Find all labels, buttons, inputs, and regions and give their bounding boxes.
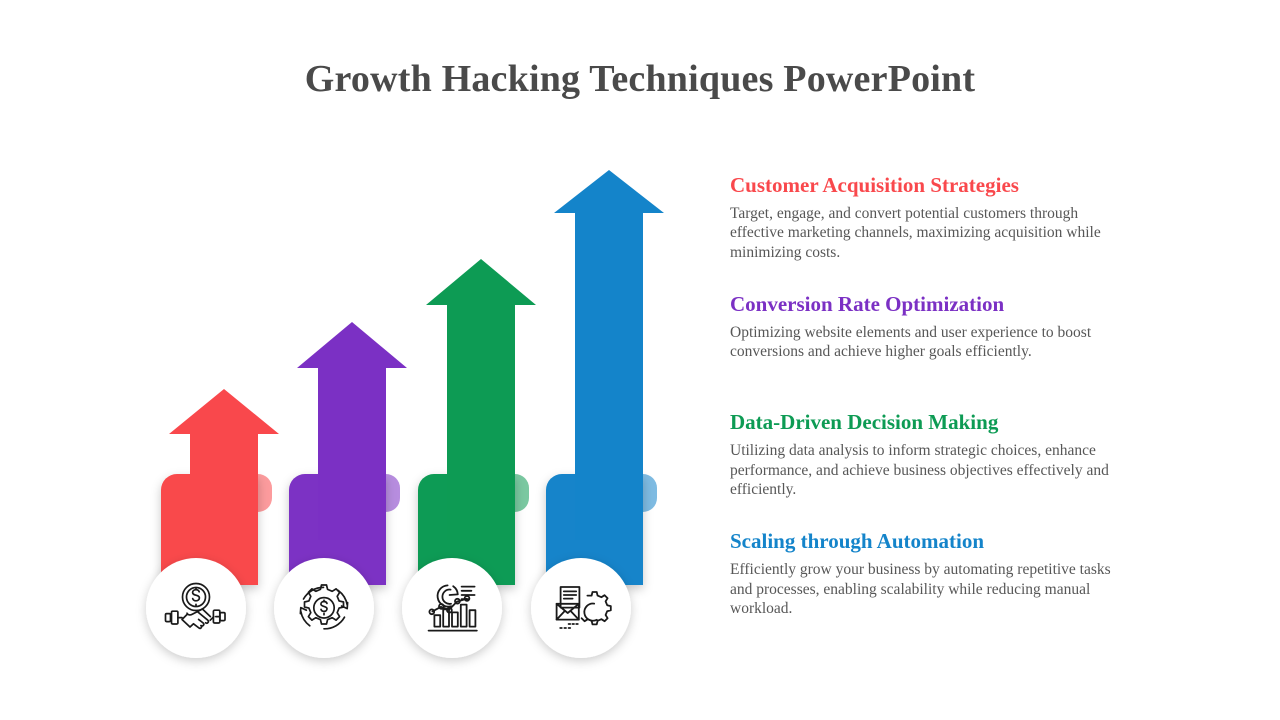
content-body-3: Utilizing data analysis to inform strate… [730, 441, 1130, 499]
content-body-2: Optimizing website elements and user exp… [730, 323, 1130, 362]
content-list: Customer Acquisition Strategies Target, … [730, 172, 1150, 618]
content-heading-1: Customer Acquisition Strategies [730, 172, 1150, 198]
content-body-4: Efficiently grow your business by automa… [730, 560, 1130, 618]
arrow-step-1[interactable] [161, 389, 279, 585]
content-item-3: Data-Driven Decision Making Utilizing da… [730, 409, 1150, 499]
arrow-step-2[interactable] [289, 322, 407, 585]
slide-canvas: Growth Hacking Techniques PowerPoint [0, 0, 1280, 720]
icon-circle-2[interactable] [274, 558, 374, 658]
content-heading-4: Scaling through Automation [730, 528, 1150, 554]
icon-circle-4-bg [531, 558, 631, 658]
arrow-step-4[interactable] [546, 170, 664, 585]
content-heading-2: Conversion Rate Optimization [730, 291, 1150, 317]
content-item-4: Scaling through Automation Efficiently g… [730, 528, 1150, 618]
icon-circle-3[interactable] [402, 558, 502, 658]
icon-circle-1[interactable] [146, 558, 246, 658]
icon-circle-2-bg [274, 558, 374, 658]
arrow-step-3[interactable] [418, 259, 536, 585]
content-heading-3: Data-Driven Decision Making [730, 409, 1150, 435]
content-item-2: Conversion Rate Optimization Optimizing … [730, 291, 1150, 362]
icon-circle-4[interactable] [531, 558, 631, 658]
icon-circle-1-bg [146, 558, 246, 658]
growth-arrows-graphic [0, 0, 700, 720]
content-body-1: Target, engage, and convert potential cu… [730, 204, 1130, 262]
content-item-1: Customer Acquisition Strategies Target, … [730, 172, 1150, 262]
